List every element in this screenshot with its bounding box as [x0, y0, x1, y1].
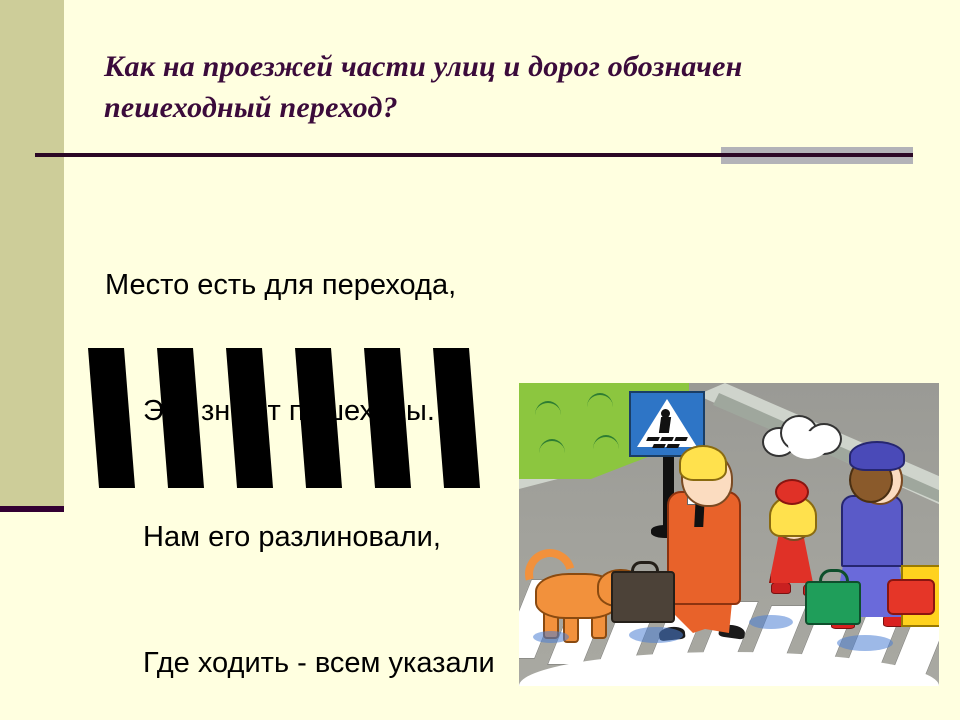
- blue-splash: [749, 615, 793, 629]
- crosswalk-stripe-4: [295, 348, 342, 488]
- left-accent-band: [0, 0, 64, 506]
- blue-splash: [837, 635, 893, 651]
- briefcase: [611, 571, 675, 623]
- crosswalk-stripe-6: [433, 348, 480, 488]
- slide: Как на проезжей части улиц и дорог обозн…: [0, 0, 960, 720]
- sign-zebra-bar: [652, 444, 666, 448]
- sign-zebra-bar: [660, 437, 674, 441]
- cloud-icon: [762, 415, 842, 453]
- blue-splash: [629, 627, 683, 643]
- crosswalk-stripe-3: [226, 348, 273, 488]
- grass-tuft-icon: [539, 439, 565, 453]
- green-bag: [805, 581, 861, 625]
- left-accent-underline: [0, 506, 64, 512]
- crosswalk-stripe-2: [157, 348, 204, 488]
- pedestrian-crossing-illustration: [519, 383, 939, 686]
- sign-zebra-bar: [666, 444, 680, 448]
- crosswalk-stripes-graphic: [88, 348, 498, 490]
- verse-line-1: Место есть для перехода,: [105, 264, 665, 306]
- woman-in-blue: [841, 495, 903, 567]
- man-hair: [679, 445, 727, 481]
- grass-tuft-icon: [587, 393, 613, 407]
- sign-zebra-bar: [674, 437, 688, 441]
- title-divider-rule: [35, 153, 913, 157]
- grass-tuft-icon: [535, 401, 561, 415]
- blue-splash: [533, 631, 569, 643]
- sign-zebra-bar: [646, 437, 660, 441]
- girl-hair-bow: [775, 479, 809, 505]
- woman-beret: [849, 441, 905, 471]
- crosswalk-stripe-5: [364, 348, 411, 488]
- crosswalk-stripe-1: [88, 348, 135, 488]
- page-title: Как на проезжей части улиц и дорог обозн…: [104, 46, 894, 128]
- grass-tuft-icon: [593, 435, 619, 449]
- red-purse: [887, 579, 935, 615]
